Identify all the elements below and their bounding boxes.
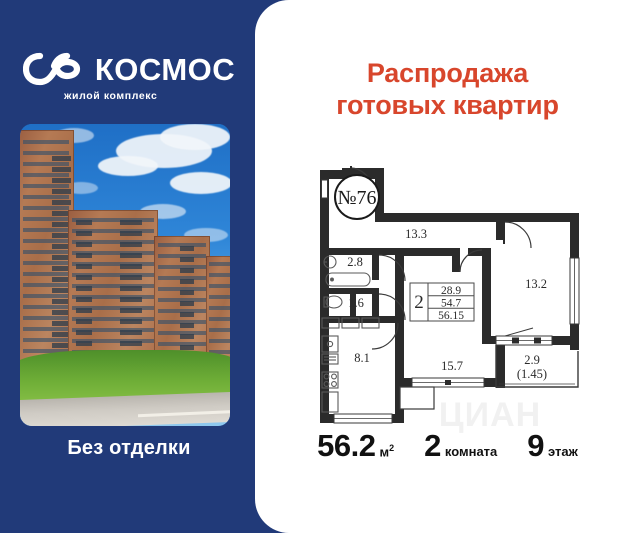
summary-area-unit: м2 bbox=[379, 443, 394, 459]
offer-panel: Распродажа готовых квартир bbox=[255, 0, 640, 533]
brand-tagline: жилой комплекс bbox=[64, 90, 157, 102]
summary-floor: 9 этаж bbox=[527, 428, 578, 464]
svg-text:13.2: 13.2 bbox=[525, 277, 547, 291]
promo-heading-line1: Распродажа bbox=[255, 58, 640, 90]
cloud-icon bbox=[170, 172, 230, 194]
brand-panel: КОСМОС жилой комплекс bbox=[0, 0, 258, 533]
svg-text:1.6: 1.6 bbox=[348, 296, 364, 310]
svg-text:(1.45): (1.45) bbox=[517, 367, 547, 381]
summary-rooms-unit: комната bbox=[445, 444, 497, 459]
brand-name: КОСМОС bbox=[95, 54, 235, 85]
apartment-number-text: №76 bbox=[337, 187, 376, 209]
plan-entry-stub bbox=[400, 387, 434, 409]
building-photo bbox=[20, 124, 230, 426]
summary-floor-value: 9 bbox=[527, 428, 544, 464]
floor-plan-drawing: №76 2 28.9 54.7 56.15 13.3 bbox=[300, 140, 600, 425]
cloud-icon bbox=[98, 156, 158, 176]
building-tower-left bbox=[20, 130, 74, 382]
summary-rooms: 2 комната bbox=[424, 428, 497, 464]
listing-card: КОСМОС жилой комплекс bbox=[0, 0, 640, 533]
svg-text:56.15: 56.15 bbox=[438, 310, 464, 322]
svg-text:13.3: 13.3 bbox=[405, 227, 427, 241]
summary-rooms-value: 2 bbox=[424, 428, 441, 464]
floor-plan[interactable]: №76 2 28.9 54.7 56.15 13.3 bbox=[300, 140, 600, 425]
svg-text:2: 2 bbox=[414, 292, 424, 313]
svg-text:28.9: 28.9 bbox=[441, 285, 461, 297]
promo-heading: Распродажа готовых квартир bbox=[255, 58, 640, 121]
cloud-icon bbox=[160, 124, 230, 150]
apartment-number-badge: №76 bbox=[335, 175, 379, 219]
listing-summary: 56.2 м2 2 комната 9 этаж bbox=[255, 428, 640, 464]
summary-area-value: 56.2 bbox=[317, 428, 375, 464]
svg-text:2.9: 2.9 bbox=[524, 353, 540, 367]
summary-area: 56.2 м2 bbox=[317, 428, 394, 464]
infinity-icon bbox=[23, 52, 85, 86]
summary-floor-unit: этаж bbox=[548, 444, 578, 459]
svg-text:54.7: 54.7 bbox=[441, 298, 461, 310]
svg-text:2.8: 2.8 bbox=[347, 255, 363, 269]
finish-caption: Без отделки bbox=[0, 437, 258, 460]
svg-text:15.7: 15.7 bbox=[441, 359, 463, 373]
svg-text:8.1: 8.1 bbox=[354, 351, 370, 365]
brand-logo: КОСМОС жилой комплекс bbox=[0, 52, 258, 102]
plan-fixtures bbox=[322, 256, 379, 412]
promo-heading-line2: готовых квартир bbox=[255, 90, 640, 122]
